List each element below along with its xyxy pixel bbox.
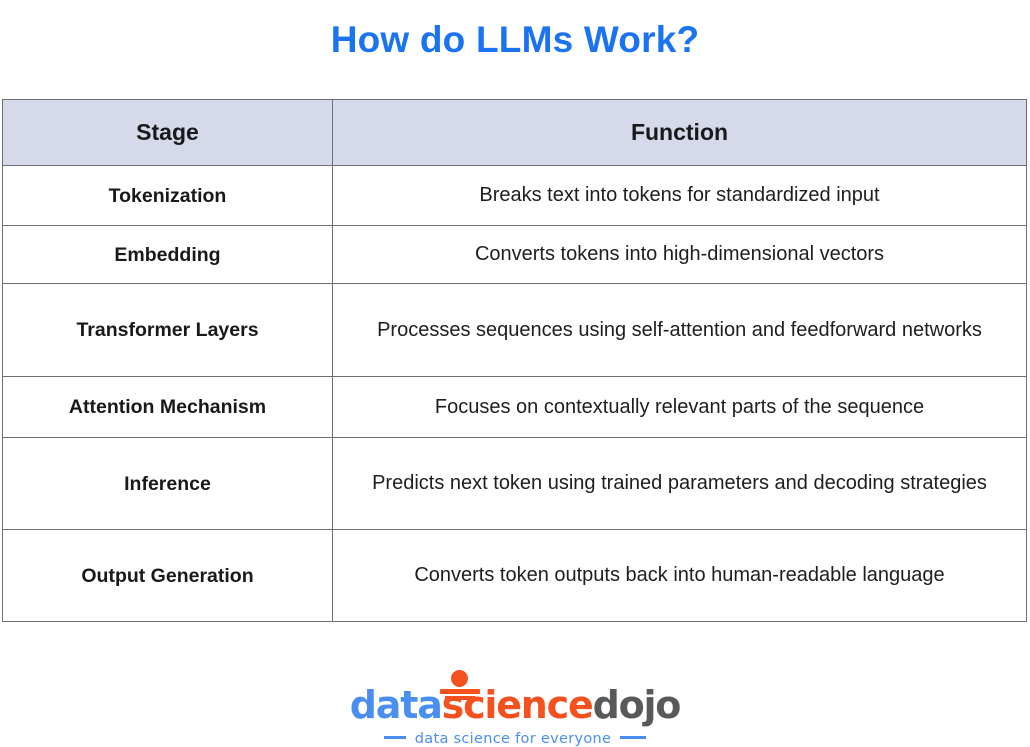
cell-stage: Inference <box>3 438 333 530</box>
table-row: Transformer Layers Processes sequences u… <box>3 284 1027 377</box>
logo-text-dojo: dojo <box>593 683 681 727</box>
llm-stages-table-container: Stage Function Tokenization Breaks text … <box>2 99 1026 622</box>
cell-function: Converts tokens into high-dimensional ve… <box>333 226 1027 284</box>
llm-stages-table: Stage Function Tokenization Breaks text … <box>2 99 1027 622</box>
cell-function: Converts token outputs back into human-r… <box>333 530 1027 622</box>
tagline-dash-left-icon <box>384 736 406 739</box>
column-header-function: Function <box>333 100 1027 166</box>
brand-logo: datasciencedojo data science for everyon… <box>0 684 1030 747</box>
cell-stage: Transformer Layers <box>3 284 333 377</box>
page-title: How do LLMs Work? <box>0 0 1030 63</box>
logo-text-data: data <box>350 683 442 727</box>
table-row: Attention Mechanism Focuses on contextua… <box>3 377 1027 438</box>
cell-function: Focuses on contextually relevant parts o… <box>333 377 1027 438</box>
cell-function: Breaks text into tokens for standardized… <box>333 166 1027 226</box>
table-header-row: Stage Function <box>3 100 1027 166</box>
column-header-stage: Stage <box>3 100 333 166</box>
cell-stage: Attention Mechanism <box>3 377 333 438</box>
cell-stage: Tokenization <box>3 166 333 226</box>
table-row: Embedding Converts tokens into high-dime… <box>3 226 1027 284</box>
table-row: Output Generation Converts token outputs… <box>3 530 1027 622</box>
cell-stage: Embedding <box>3 226 333 284</box>
cell-stage: Output Generation <box>3 530 333 622</box>
logo-wordmark: datasciencedojo <box>350 684 680 726</box>
table-row: Tokenization Breaks text into tokens for… <box>3 166 1027 226</box>
cell-function: Predicts next token using trained parame… <box>333 438 1027 530</box>
table-body: Tokenization Breaks text into tokens for… <box>3 166 1027 622</box>
table-header: Stage Function <box>3 100 1027 166</box>
table-row: Inference Predicts next token using trai… <box>3 438 1027 530</box>
cell-function: Processes sequences using self-attention… <box>333 284 1027 377</box>
tagline-dash-right-icon <box>620 736 646 739</box>
logo-text-science: science <box>442 683 593 727</box>
